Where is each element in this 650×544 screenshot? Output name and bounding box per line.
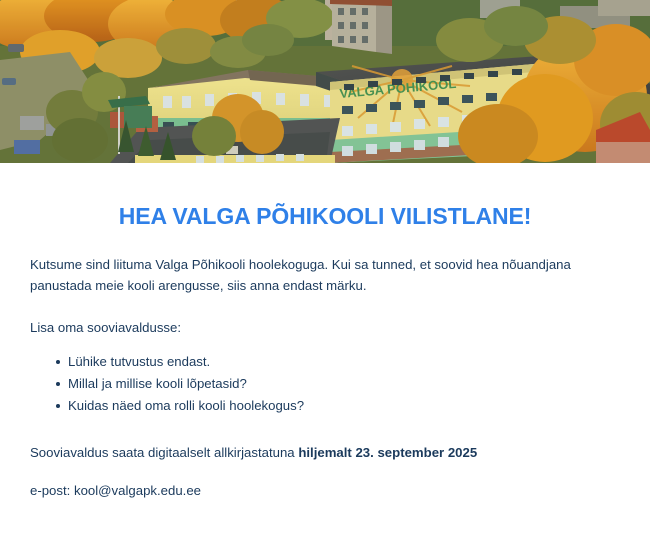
list-item: Millal ja millise kooli lõpetasid? (56, 374, 620, 396)
page-title: HEA VALGA PÕHIKOOLI VILISTLANE! (0, 163, 650, 230)
body-block: Kutsume sind liituma Valga Põhikooli hoo… (0, 230, 650, 501)
contact-email-line: e-post: kool@valgapk.edu.ee (30, 463, 620, 501)
deadline-prefix: Sooviavaldus saata digitaalselt allkirja… (30, 445, 298, 460)
intro-paragraph: Kutsume sind liituma Valga Põhikooli hoo… (30, 230, 610, 296)
hero-photo: VALGA PÕHIKOOL (0, 0, 650, 163)
list-item: Lühike tutvustus endast. (56, 352, 620, 374)
requirements-list: Lühike tutvustus endast. Millal ja milli… (30, 338, 620, 418)
deadline-paragraph: Sooviavaldus saata digitaalselt allkirja… (30, 418, 620, 463)
poster-page: VALGA PÕHIKOOL (0, 0, 650, 544)
list-intro-text: Lisa oma sooviavaldusse: (30, 296, 620, 338)
poster-content: HEA VALGA PÕHIKOOLI VILISTLANE! Kutsume … (0, 163, 650, 501)
list-item: Kuidas näed oma rolli kooli hoolekogus? (56, 396, 620, 418)
deadline-date: hiljemalt 23. september 2025 (298, 445, 477, 460)
aerial-school-photo-illustration: VALGA PÕHIKOOL (0, 0, 650, 163)
